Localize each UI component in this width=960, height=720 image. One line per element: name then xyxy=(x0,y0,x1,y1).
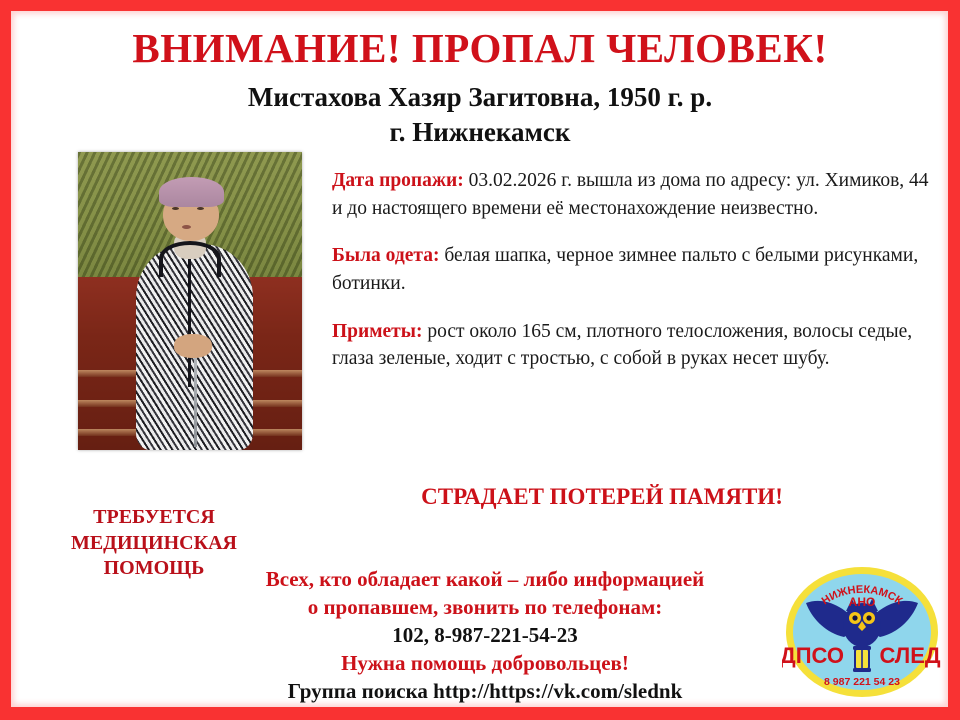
contact-instruction-line-2: о пропавшем, звонить по телефонам: xyxy=(200,594,770,622)
frame-border-bottom xyxy=(0,707,960,720)
dpso-sled-logo: НИЖНЕКАМСК АНО ДПСО СЛЕД 8 987 221 54 23 xyxy=(782,563,942,701)
photo-walking-cane xyxy=(194,343,197,447)
clothing-paragraph: Была одета: белая шапка, черное зимнее п… xyxy=(332,242,932,297)
owl-pupil-left xyxy=(852,615,857,620)
features-label: Приметы: xyxy=(332,321,422,342)
photo-person-eye xyxy=(197,207,204,210)
search-group-link: Группа поиска http://https://vk.com/sled… xyxy=(200,678,770,706)
contact-phone-numbers: 102, 8-987-221-54-23 xyxy=(200,622,770,650)
missing-person-city: г. Нижнекамск xyxy=(0,117,960,148)
photo-person-hands xyxy=(174,334,212,358)
missing-person-photo xyxy=(78,152,302,450)
description-block: Дата пропажи: 03.02.2026 г. вышла из дом… xyxy=(332,167,932,373)
medical-help-line-2: МЕДИЦИНСКАЯ xyxy=(48,531,260,557)
medical-help-line-1: ТРЕБУЕТСЯ xyxy=(48,505,260,531)
contact-instruction-line-1: Всех, кто обладает какой – либо информац… xyxy=(200,566,770,594)
logo-left-word: ДПСО xyxy=(782,643,844,668)
photo-coat-collar xyxy=(159,241,222,277)
frame-border-top xyxy=(0,0,960,11)
disappearance-date-label: Дата пропажи: xyxy=(332,170,464,191)
missing-person-poster: ВНИМАНИЕ! ПРОПАЛ ЧЕЛОВЕК! Мистахова Хазя… xyxy=(0,0,960,720)
logo-org-type: АНО xyxy=(849,595,876,609)
volunteers-needed-line: Нужна помощь добровольцев! xyxy=(200,650,770,678)
photo-person-headscarf xyxy=(159,177,224,207)
poster-title: ВНИМАНИЕ! ПРОПАЛ ЧЕЛОВЕК! xyxy=(0,24,960,72)
owl-pupil-right xyxy=(866,615,871,620)
clothing-label: Была одета: xyxy=(332,245,439,266)
contact-block: Всех, кто обладает какой – либо информац… xyxy=(200,566,770,706)
memory-loss-warning: СТРАДАЕТ ПОТЕРЕЙ ПАМЯТИ! xyxy=(332,484,872,510)
missing-person-name: Мистахова Хазяр Загитовна, 1950 г. р. xyxy=(0,82,960,113)
features-paragraph: Приметы: рост около 165 см, плотного тел… xyxy=(332,318,932,373)
logo-right-word: СЛЕД xyxy=(879,643,940,668)
disappearance-date-paragraph: Дата пропажи: 03.02.2026 г. вышла из дом… xyxy=(332,167,932,222)
logo-phone: 8 987 221 54 23 xyxy=(824,676,900,688)
